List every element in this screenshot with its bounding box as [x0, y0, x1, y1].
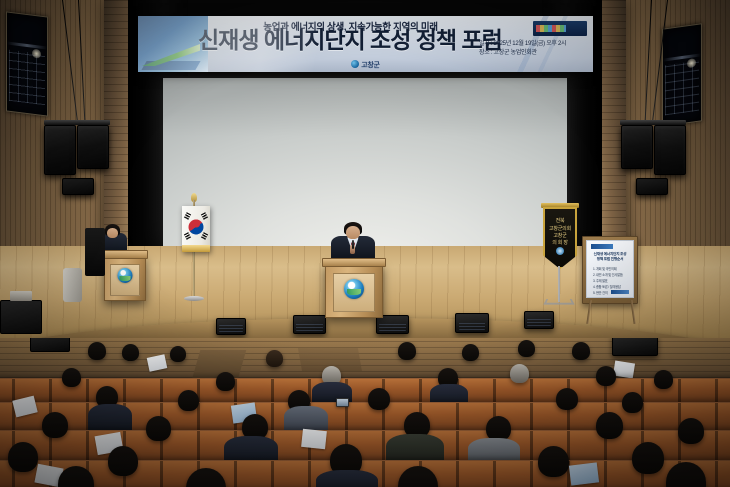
program-poster: 신재생 에너지단지 조성 정책 포럼 진행순서 1. 개회 및 국민의례 2. …	[586, 240, 634, 298]
right-subwoofer	[636, 178, 668, 195]
monitor-grille	[296, 323, 322, 331]
monitor-grille	[219, 325, 243, 332]
booth-grid	[665, 61, 699, 116]
left-subwoofer	[62, 178, 94, 195]
program-handout	[301, 429, 327, 449]
audience-head	[510, 364, 529, 383]
banner-date: 일시 : 2025년 12월 19일(금) 오후 2시	[479, 40, 583, 49]
audience-head	[8, 442, 38, 472]
main-podium-emblem	[344, 279, 364, 299]
right-control-booth-window	[662, 23, 702, 127]
left-control-booth-window	[6, 11, 48, 116]
audience-head	[596, 366, 616, 386]
ceremonial-banner-stand	[558, 266, 560, 302]
audience-head	[42, 412, 68, 438]
monitor-grille	[527, 319, 551, 326]
side-podium-top	[102, 250, 148, 259]
ceremonial-banner-emblem	[556, 247, 564, 255]
monitor-grille	[379, 323, 405, 331]
audience-head	[178, 390, 199, 411]
county-seal-icon	[351, 60, 359, 68]
booth-glint	[7, 42, 47, 50]
side-podium	[104, 256, 146, 301]
side-podium-emblem	[118, 268, 133, 283]
banner-place: 장소 : 고창군 농업인회관	[479, 49, 583, 58]
audience-head	[108, 446, 138, 476]
banner-sponsor-logo	[533, 21, 587, 36]
stage-monitor	[216, 318, 246, 335]
stage-monitor	[293, 315, 326, 334]
audience-head	[122, 344, 139, 361]
side-podium-chair	[85, 228, 105, 276]
audience-shoulders	[316, 470, 378, 487]
stage-equipment-case	[0, 300, 42, 334]
audience-head	[170, 346, 186, 362]
program-handout	[569, 462, 599, 485]
audience-head	[88, 342, 106, 360]
logo-color-bars	[536, 25, 566, 32]
projection-screen	[163, 78, 567, 246]
speaker-box	[621, 125, 653, 169]
banner-meta: 일시 : 2025년 12월 19일(금) 오후 2시 장소 : 고창군 농업인…	[479, 40, 583, 58]
audience-head	[146, 416, 171, 441]
audience-head	[62, 368, 81, 387]
stage-monitor	[455, 313, 489, 333]
audience-head	[398, 342, 416, 360]
banner-host: 고창군	[138, 60, 593, 70]
audience-head	[654, 370, 673, 389]
audience-shoulders	[284, 406, 328, 432]
monitor-grille	[459, 322, 486, 330]
side-speaker-head	[107, 228, 118, 238]
ceremonial-banner-text: 전북 고창군의회 고창군 의 회 장	[545, 218, 575, 247]
speaker-box	[44, 125, 76, 175]
cb-line-2: 고창군의회	[545, 226, 575, 233]
audience-head	[572, 342, 590, 360]
poster-title: 신재생 에너지단지 조성 정책 포럼 진행순서	[591, 252, 629, 263]
speaker-box	[77, 125, 109, 169]
audience-area	[0, 338, 730, 487]
audience-head	[632, 442, 664, 474]
taeguk-symbol	[189, 220, 204, 235]
handheld-microphone	[352, 240, 354, 249]
poster-header-tag	[591, 244, 613, 249]
audience-head	[368, 388, 390, 410]
poster-item: 6. 마무리 말씀	[593, 297, 629, 298]
stage-monitor	[524, 311, 554, 329]
audience-head	[538, 446, 569, 477]
trigram	[184, 212, 191, 220]
audience-head	[678, 418, 704, 444]
banner-title: 신재생 에너지단지 조성 정책 포럼	[198, 28, 475, 53]
audience-head	[596, 412, 623, 439]
flag-stand-base	[184, 296, 204, 301]
korean-flag	[182, 206, 210, 252]
cb-line-1: 전북	[545, 218, 575, 225]
main-podium	[325, 264, 383, 318]
proscenium-header	[128, 0, 602, 16]
main-podium-top	[322, 258, 386, 267]
rear-speaker	[612, 338, 658, 356]
audience-head	[518, 340, 535, 357]
program-poster-board: 신재생 에너지단지 조성 정책 포럼 진행순서 1. 개회 및 국민의례 2. …	[582, 236, 638, 304]
audience-head	[216, 372, 235, 391]
poster-title-line-2: 정책 포럼 진행순서	[591, 257, 629, 262]
attendee-phone	[336, 398, 349, 407]
ceremonial-banner-feet	[543, 299, 574, 305]
speaker-box	[654, 125, 686, 175]
program-handout	[613, 361, 635, 379]
trigram	[201, 232, 208, 240]
trigram	[201, 212, 208, 220]
rear-speaker	[30, 338, 70, 352]
cb-line-4: 의 회 장	[545, 240, 575, 247]
auditorium-photo: 농업과 에너지의 상생, 지속가능한 지역의 미래 신재생 에너지단지 조성 정…	[0, 0, 730, 487]
audience-head	[462, 344, 479, 361]
flag-fringe	[182, 245, 210, 252]
main-speaker-head	[346, 226, 360, 239]
event-banner: 농업과 에너지의 상생, 지속가능한 지역의 미래 신재생 에너지단지 조성 정…	[138, 16, 593, 72]
stage-equipment-top	[10, 291, 32, 301]
banner-host-label: 고창군	[361, 62, 379, 69]
audience-head	[266, 350, 283, 367]
cb-line-3: 고창군	[545, 233, 575, 240]
audience-head	[622, 392, 643, 413]
poster-footer-tag	[611, 290, 629, 294]
stage-column-prop	[63, 268, 82, 302]
audience-shoulders	[88, 404, 132, 432]
trigram	[184, 232, 191, 240]
audience-head	[556, 388, 578, 410]
booth-grid	[9, 50, 45, 105]
